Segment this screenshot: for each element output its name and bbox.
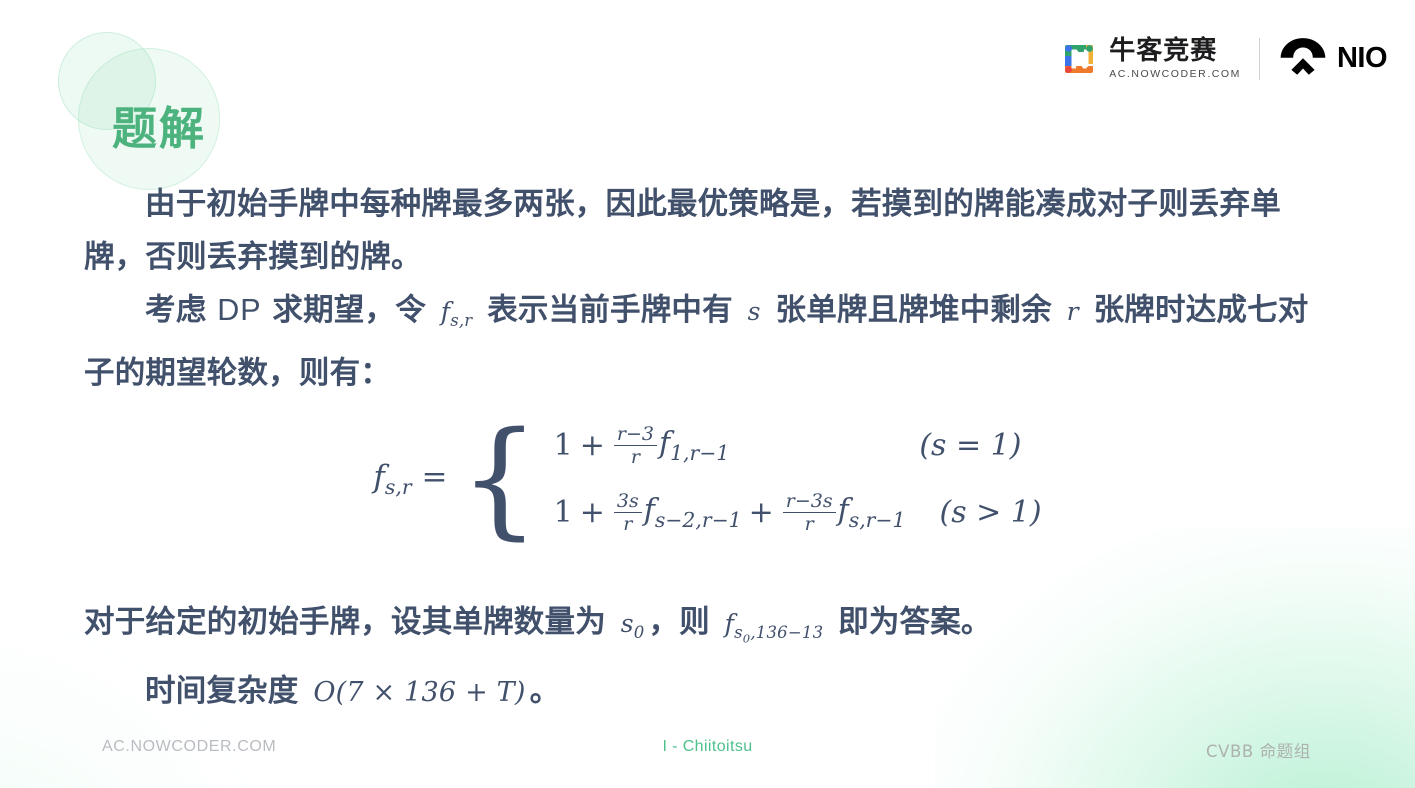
p3-var-f-base: f [725, 609, 734, 638]
slide-canvas: 牛客竞赛 AC.NOWCODER.COM NIO 题解 由于初始手牌中每种牌最多… [0, 0, 1415, 788]
nio-wordmark: NIO [1337, 42, 1387, 75]
case-2-fraction-2: r−3s r [783, 491, 836, 534]
case-2-plus-2: + [742, 495, 781, 530]
case-1-fraction: r−3 r [614, 424, 657, 467]
nowcoder-domain-text: AC.NOWCODER.COM [1109, 69, 1241, 80]
case-2-fraction-1: 3s r [614, 491, 642, 534]
p3-var-f-sub-rest: ,136−13 [750, 623, 823, 642]
formula-equals-sign: = [421, 459, 447, 495]
case-2-numerator-2: r−3s [783, 491, 836, 512]
p4-part-b: 。 [530, 674, 561, 709]
logo-divider [1259, 38, 1260, 80]
p3-var-f-subscript: s0,136−13 [734, 623, 823, 642]
p2-part-c: 表示当前手牌中有 [476, 293, 743, 328]
p2-part-d: 张单牌且牌堆中剩余 [765, 293, 1063, 328]
case-2-numerator-1: 3s [614, 491, 642, 512]
p2-var-f: fs,r [437, 297, 477, 326]
p2-var-f-base: f [441, 297, 450, 326]
nio-logo-lockup: NIO [1278, 36, 1387, 81]
p3-part-b: ，则 [648, 605, 720, 640]
dp-recurrence-formula: fs,r = { 1 + r−3 r f1,r−1 (s = 1) [0, 424, 1415, 534]
case-1-plus: + [573, 428, 612, 463]
header-logo-group: 牛客竞赛 AC.NOWCODER.COM NIO [1058, 36, 1387, 81]
paragraph-3: 对于给定的初始手牌，设其单牌数量为 s0，则 fs0,136−13 即为答案。 [84, 596, 1332, 665]
p3-var-f: fs0,136−13 [721, 609, 828, 638]
case-2-fn2-subscript: s,r−1 [849, 508, 906, 532]
page-title: 题解 [112, 92, 206, 157]
p3-var-s0-subscript: 0 [634, 623, 645, 642]
p3-part-c: 即为答案。 [827, 605, 991, 640]
formula-case-1: 1 + r−3 r f1,r−1 (s = 1) [554, 424, 1042, 467]
case-2-fn1-base: f [644, 493, 655, 528]
case-2-denominator-1: r [614, 512, 642, 535]
paragraph-1: 由于初始手牌中每种牌最多两张，因此最优策略是，若摸到的牌能凑成对子则丢弃单牌，否… [84, 178, 1332, 284]
p4-part-a: 时间复杂度 [145, 674, 309, 709]
case-1-function: f1,r−1 [659, 426, 729, 465]
formula-lhs-base: f [373, 459, 384, 495]
p3-var-s0-base: s [621, 609, 634, 638]
nowcoder-text-block: 牛客竞赛 AC.NOWCODER.COM [1109, 38, 1241, 80]
case-1-fn-base: f [659, 426, 670, 461]
case-2-plus: + [573, 495, 612, 530]
formula-cases-brace: { [459, 430, 539, 528]
paragraph-1-line-1: 由于初始手牌中每种牌最多两张，因此最优策略是，若摸到的牌能凑成 [145, 187, 1097, 222]
case-1-condition: (s = 1) [919, 428, 1021, 463]
paragraph-4: 时间复杂度 O(7 × 136 + T)。 [84, 665, 1332, 719]
nio-arch-icon [1278, 36, 1328, 81]
p3-part-a: 对于给定的初始手牌，设其单牌数量为 [84, 605, 617, 640]
case-1-expression: 1 + r−3 r f1,r−1 [554, 424, 730, 467]
p2-var-r: r [1063, 297, 1083, 326]
case-2-expression: 1 + 3s r fs−2,r−1 + r−3s r fs,r−1 [554, 491, 906, 534]
p2-var-f-subscript: s,r [450, 311, 472, 330]
case-1-denominator: r [614, 445, 657, 468]
nowcoder-n-logo-icon [1058, 38, 1100, 80]
p4-complexity: O(7 × 136 + T) [309, 677, 529, 708]
footer-problem-label: I - Chiitoitsu [0, 738, 1415, 756]
case-2-denominator-2: r [783, 512, 836, 535]
p3-var-f-sub-s: s [734, 623, 743, 642]
p2-dp-label: DP [217, 293, 261, 327]
case-2-fn2-base: f [838, 493, 849, 528]
slide-body: 由于初始手牌中每种牌最多两张，因此最优策略是，若摸到的牌能凑成对子则丢弃单牌，否… [84, 178, 1332, 400]
p3-var-s0: s0 [617, 609, 649, 638]
formula-case-2: 1 + 3s r fs−2,r−1 + r−3s r fs,r−1 [554, 491, 1042, 534]
case-2-fn1-subscript: s−2,r−1 [655, 508, 742, 532]
case-2-function-1: fs−2,r−1 [644, 493, 742, 532]
slide-body-lower: 对于给定的初始手牌，设其单牌数量为 s0，则 fs0,136−13 即为答案。 … [84, 596, 1332, 719]
case-2-condition: (s > 1) [940, 495, 1042, 530]
p2-var-s: s [744, 297, 765, 326]
p2-part-b: 求期望，令 [262, 293, 437, 328]
formula-lhs: fs,r = [373, 459, 447, 499]
case-1-constant: 1 [554, 428, 573, 463]
formula-cases: 1 + r−3 r f1,r−1 (s = 1) 1 + [554, 424, 1042, 534]
formula-lhs-subscript: s,r [385, 475, 412, 499]
nowcoder-cn-name: 牛客竞赛 [1109, 38, 1241, 64]
case-1-numerator: r−3 [614, 424, 657, 445]
case-2-constant: 1 [554, 495, 573, 530]
case-2-function-2: fs,r−1 [838, 493, 906, 532]
footer-team-label: CVBB 命题组 [1206, 738, 1311, 762]
nowcoder-logo-lockup: 牛客竞赛 AC.NOWCODER.COM [1058, 38, 1241, 80]
case-1-fn-subscript: 1,r−1 [670, 441, 729, 465]
p2-part-a: 考虑 [145, 293, 217, 328]
p2-part-e: 张 [1083, 293, 1125, 328]
paragraph-2: 考虑 DP 求期望，令 fs,r 表示当前手牌中有 s 张单牌且牌堆中剩余 r … [84, 284, 1332, 400]
slide-footer: AC.NOWCODER.COM I - Chiitoitsu CVBB 命题组 [0, 738, 1415, 764]
